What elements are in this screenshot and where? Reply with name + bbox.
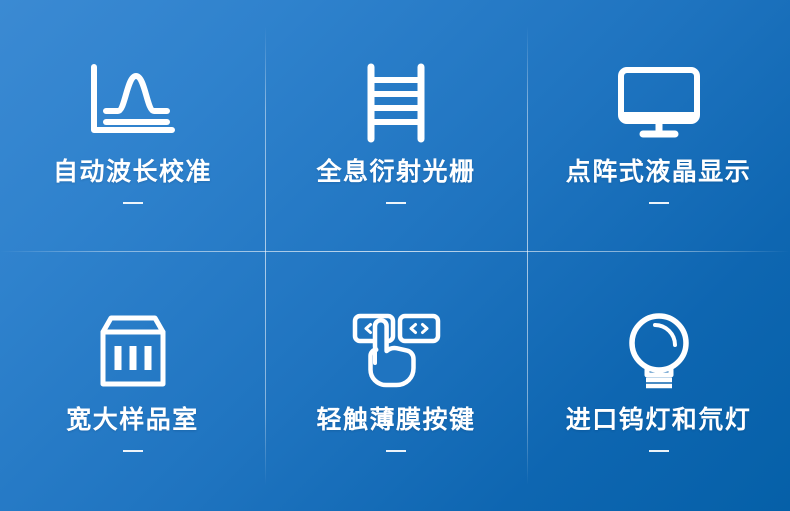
feature-label: 点阵式液晶显示 xyxy=(566,160,752,185)
feature-label: 全息衍射光栅 xyxy=(316,160,475,185)
sample-chamber-box-icon xyxy=(85,308,181,394)
feature-dash xyxy=(386,450,406,452)
feature-dash xyxy=(123,450,143,452)
feature-cell-imported-tungsten-deuterium-lamps[interactable]: 进口钨灯和氘灯 xyxy=(527,251,790,511)
grating-ladder-icon xyxy=(348,60,444,146)
feature-grid: 自动波长校准 全息衍射光栅 xyxy=(0,0,790,511)
feature-cell-dot-matrix-lcd-display[interactable]: 点阵式液晶显示 xyxy=(527,0,790,251)
feature-dash xyxy=(123,202,143,204)
light-bulb-icon xyxy=(611,308,707,394)
feature-dash xyxy=(386,202,406,204)
feature-dash xyxy=(649,450,669,452)
feature-label: 轻触薄膜按键 xyxy=(316,408,475,433)
feature-dash xyxy=(649,202,669,204)
feature-cell-membrane-touch-keypad[interactable]: 轻触薄膜按键 xyxy=(265,251,527,511)
feature-label: 进口钨灯和氘灯 xyxy=(566,408,752,433)
spectrum-peak-chart-icon xyxy=(85,60,181,146)
feature-cell-auto-wavelength-calibration[interactable]: 自动波长校准 xyxy=(0,0,265,251)
feature-cell-holographic-diffraction-grating[interactable]: 全息衍射光栅 xyxy=(265,0,527,251)
monitor-display-icon xyxy=(611,60,707,146)
hand-press-keypad-icon xyxy=(348,308,444,394)
feature-label: 宽大样品室 xyxy=(66,408,199,433)
feature-cell-large-sample-chamber[interactable]: 宽大样品室 xyxy=(0,251,265,511)
feature-label: 自动波长校准 xyxy=(53,160,212,185)
feature-grid-panel: 自动波长校准 全息衍射光栅 xyxy=(0,0,790,511)
